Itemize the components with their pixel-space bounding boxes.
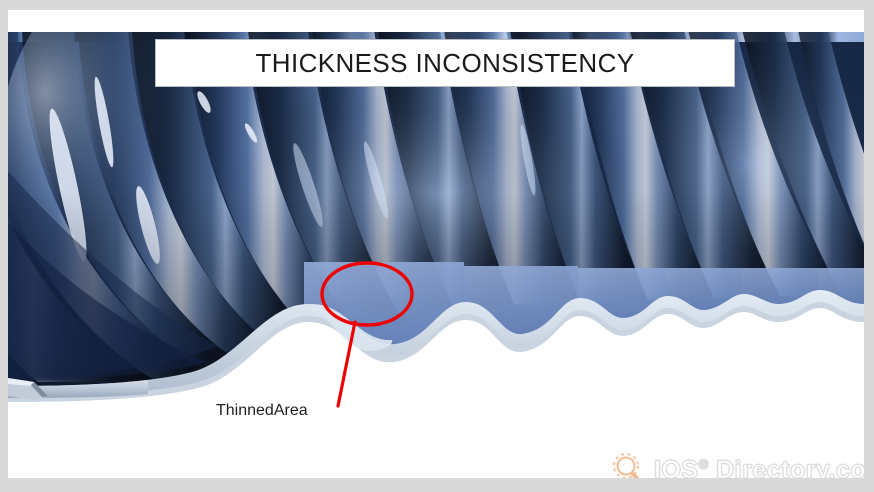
watermark: IQS® Directory.com xyxy=(608,448,864,478)
image-canvas: THICKNESS INCONSISTENCY ThinnedArea IQS®… xyxy=(8,10,864,478)
screenshot-root: THICKNESS INCONSISTENCY ThinnedArea IQS®… xyxy=(0,0,874,492)
magnifier-gear-icon xyxy=(608,449,650,478)
page-title: THICKNESS INCONSISTENCY xyxy=(255,48,634,79)
watermark-text: IQS® Directory.com xyxy=(654,456,864,479)
callout-label: ThinnedArea xyxy=(216,402,308,420)
watermark-registered: ® xyxy=(699,456,709,471)
watermark-brand: IQS xyxy=(654,456,699,479)
watermark-suffix: Directory.com xyxy=(709,456,864,479)
title-plate: THICKNESS INCONSISTENCY xyxy=(155,39,735,87)
